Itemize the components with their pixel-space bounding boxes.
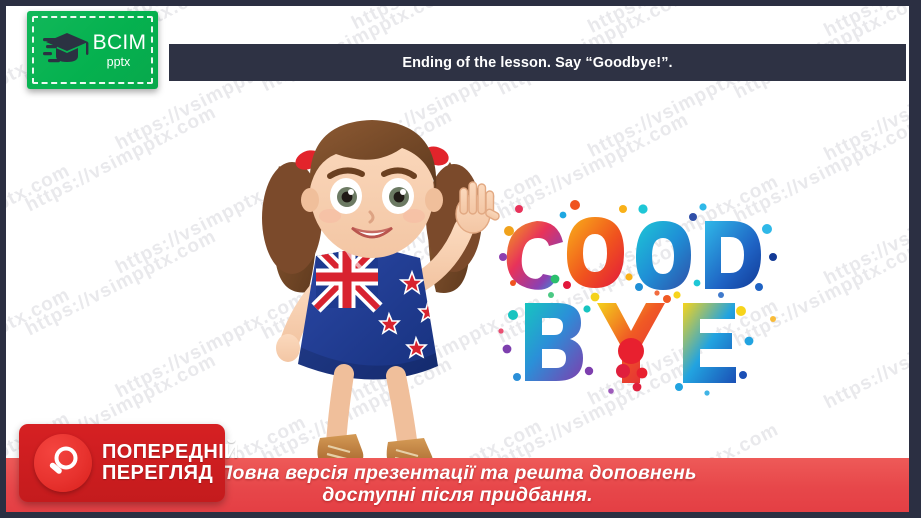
- preview-badge[interactable]: ПОПЕРЕДНІЙ ПЕРЕГЛЯД: [19, 424, 225, 502]
- magnifier-icon: [34, 434, 92, 492]
- logo-suffix: pptx: [107, 56, 131, 69]
- slide-root: https://vsimpptx.comhttps://vsimpptx.com…: [0, 0, 921, 518]
- preview-badge-text: ПОПЕРЕДНІЙ ПЕРЕГЛЯД: [102, 442, 239, 484]
- cartoon-girl-waving: [224, 96, 524, 486]
- logo-name: BCIM: [93, 32, 147, 53]
- purchase-notice-line2: доступні після придбання.: [322, 485, 592, 507]
- goodbye-paint-splash: [491, 191, 781, 401]
- purchase-notice-line1: Повна версія презентації та решта доповн…: [218, 463, 696, 485]
- preview-badge-line2: ПЕРЕГЛЯД: [102, 463, 239, 484]
- preview-badge-line1: ПОПЕРЕДНІЙ: [102, 442, 239, 463]
- bcim-logo-badge[interactable]: BCIM pptx: [27, 11, 158, 89]
- lesson-header-bar: Ending of the lesson. Say “Goodbye!”.: [169, 44, 906, 81]
- page-title: Ending of the lesson. Say “Goodbye!”.: [402, 55, 672, 71]
- graduation-cap-icon: [43, 29, 89, 71]
